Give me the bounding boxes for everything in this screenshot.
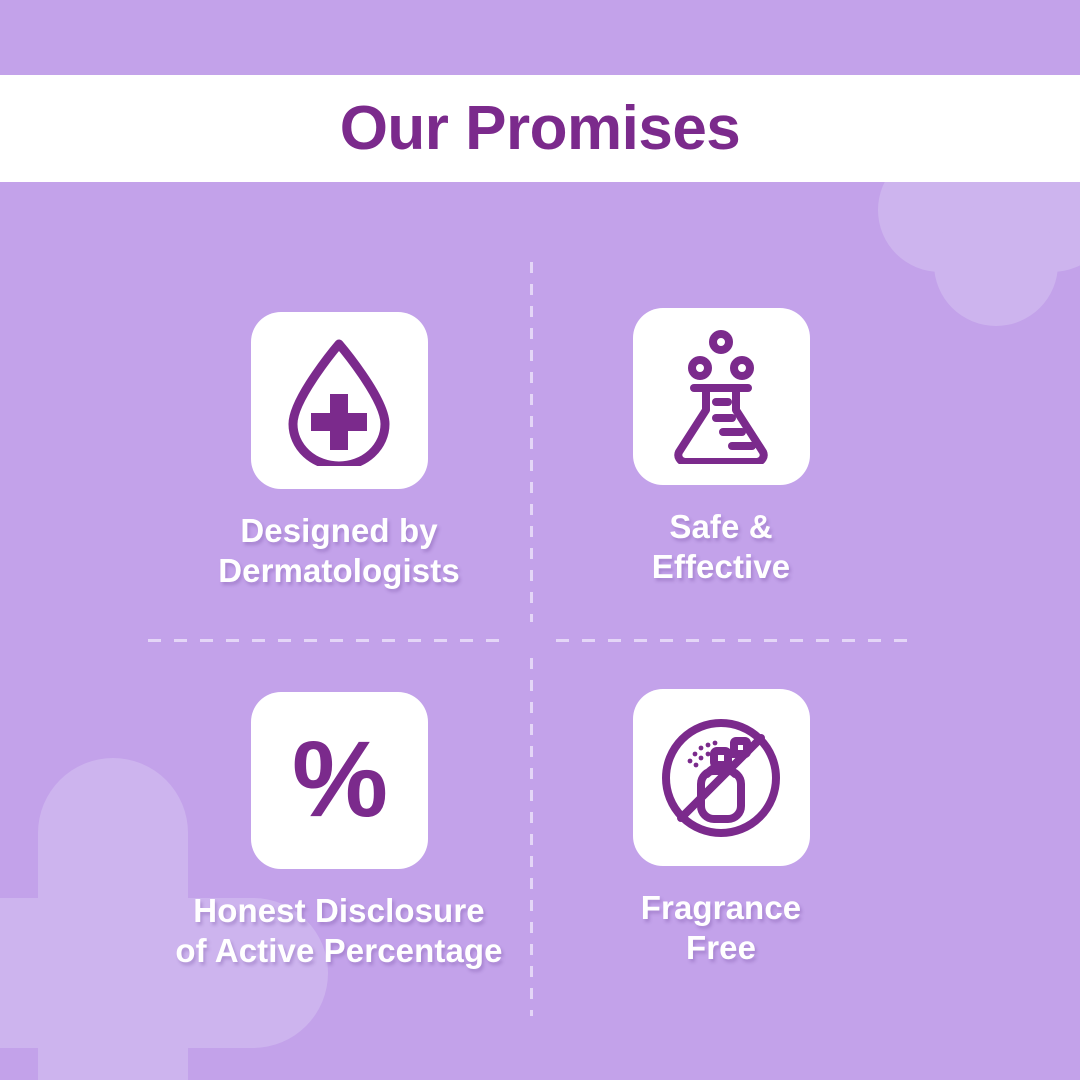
promise-label: Fragrance Free <box>641 888 801 968</box>
header-band: Our Promises <box>0 75 1080 182</box>
lab-flask-icon <box>660 330 782 464</box>
promise-item-fragrance-free: Fragrance Free <box>506 689 936 968</box>
lab-flask-icon-card <box>633 308 810 485</box>
promises-infographic: Our Promises Designed by Dermatologists <box>0 0 1080 1080</box>
percent-icon: % <box>292 725 386 833</box>
no-fragrance-icon <box>657 714 785 842</box>
promise-label: Designed by Dermatologists <box>218 511 460 591</box>
percent-icon-card: % <box>251 692 428 869</box>
droplet-plus-icon <box>279 336 399 466</box>
promise-item-designed-by-dermatologists: Designed by Dermatologists <box>124 312 554 591</box>
promise-item-honest-disclosure: % Honest Disclosure of Active Percentage <box>124 692 554 971</box>
droplet-plus-icon-card <box>251 312 428 489</box>
promise-label: Safe & Effective <box>652 507 790 587</box>
page-title: Our Promises <box>340 98 741 160</box>
promise-item-safe-and-effective: Safe & Effective <box>506 308 936 587</box>
promise-label: Honest Disclosure of Active Percentage <box>175 891 502 971</box>
promises-grid: Designed by Dermatologists <box>0 182 1080 1080</box>
no-fragrance-icon-card <box>633 689 810 866</box>
